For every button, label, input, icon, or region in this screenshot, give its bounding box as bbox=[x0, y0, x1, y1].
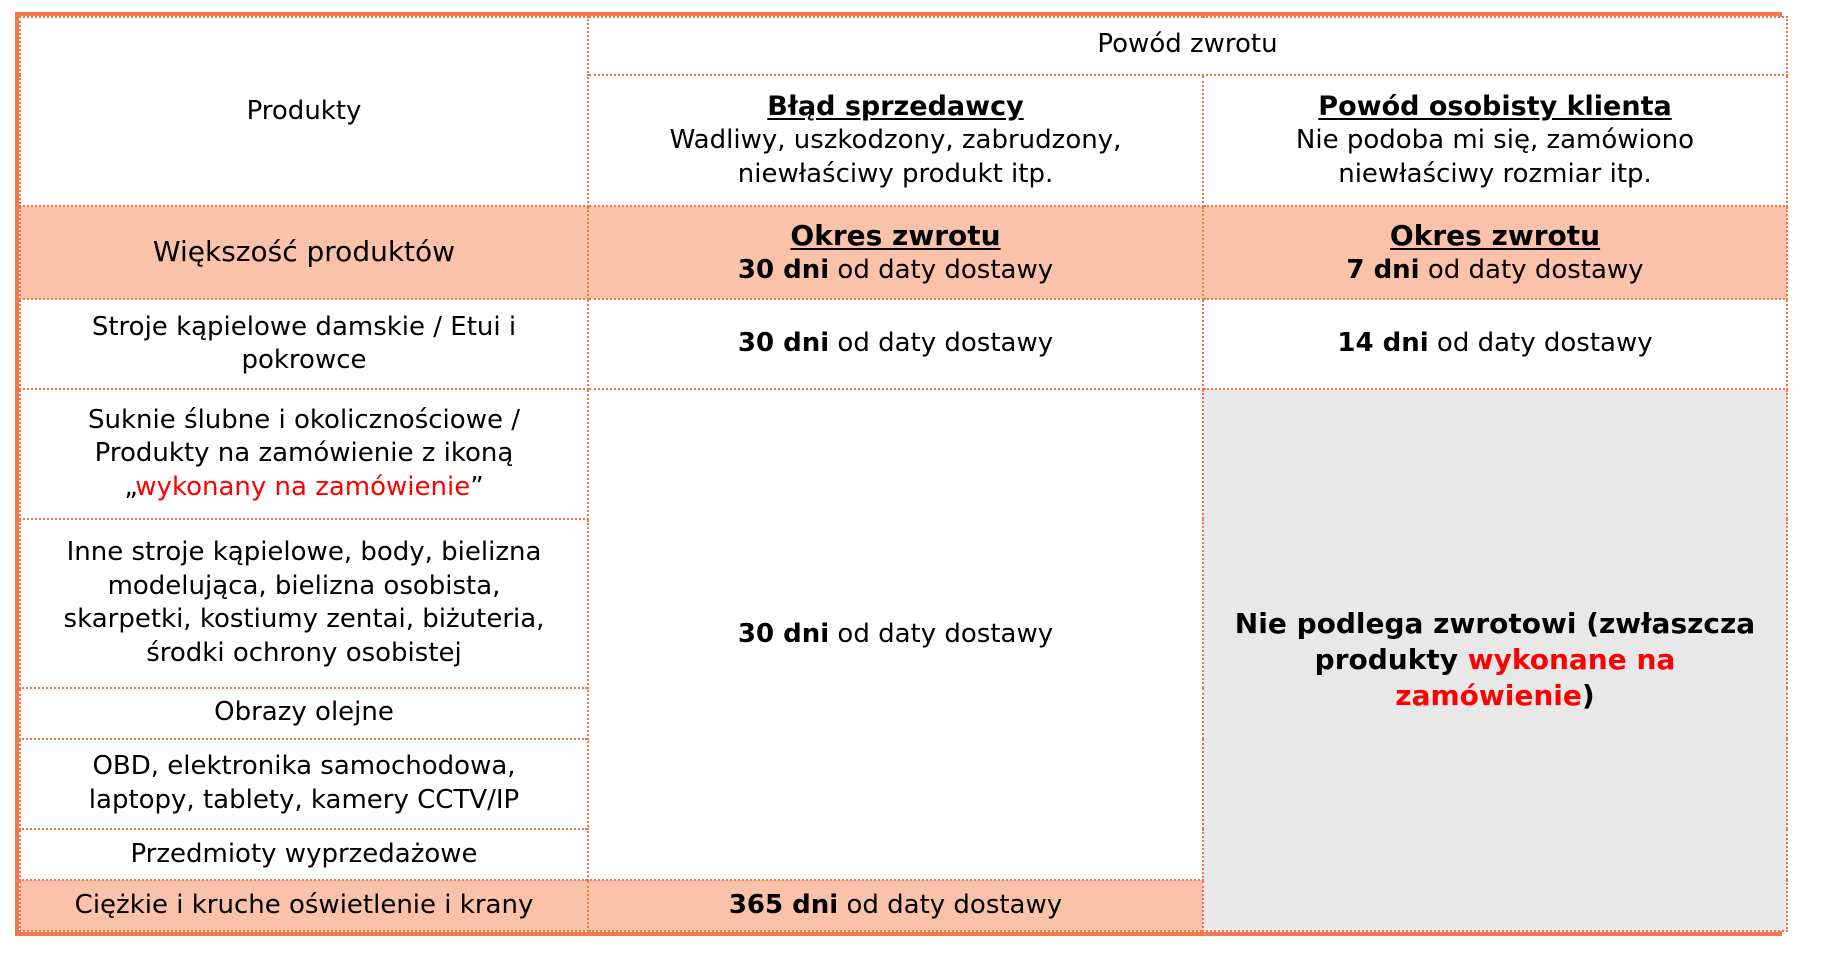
personal-reason-cell-swimwear-cases: 14 dni od daty dostawy bbox=[1203, 299, 1787, 389]
return-period-days: 365 dni bbox=[729, 890, 838, 920]
table-row-swimwear-cases: Stroje kąpielowe damskie / Etui i pokrow… bbox=[20, 299, 1787, 389]
seller-error-cell-heavy-fragile: 365 dni od daty dostawy bbox=[588, 880, 1203, 931]
header-seller-error-desc-line2: niewłaściwy produkt itp. bbox=[599, 158, 1192, 192]
return-policy-table: Produkty Powód zwrotu Błąd sprzedawcy Wa… bbox=[19, 16, 1788, 932]
product-cell-electronics: OBD, elektronika samochodowa, laptopy, t… bbox=[20, 739, 588, 829]
no-return-prefix: produkty bbox=[1315, 643, 1468, 676]
return-period-days: 30 dni bbox=[738, 255, 829, 285]
table-row-most-products: Większość produktów Okres zwrotu 30 dni … bbox=[20, 206, 1787, 299]
product-label-line3: „wykonany na zamówienie” bbox=[31, 471, 577, 505]
header-seller-error-column: Błąd sprzedawcy Wadliwy, uszkodzony, zab… bbox=[588, 75, 1203, 206]
product-label-line3: skarpetki, kostiumy zentai, biżuteria, bbox=[31, 603, 577, 637]
product-cell-clearance-items: Przedmioty wyprzedażowe bbox=[20, 829, 588, 880]
return-period-days: 30 dni bbox=[738, 328, 829, 358]
product-label-line2: pokrowce bbox=[31, 344, 577, 378]
return-period-days: 7 dni bbox=[1346, 255, 1419, 285]
return-period-value: 7 dni od daty dostawy bbox=[1214, 254, 1776, 288]
product-cell-wedding-dresses: Suknie ślubne i okolicznościowe / Produk… bbox=[20, 389, 588, 519]
seller-error-cell-most-products: Okres zwrotu 30 dni od daty dostawy bbox=[588, 206, 1203, 299]
return-period-suffix: od daty dostawy bbox=[838, 890, 1062, 920]
product-cell-heavy-fragile: Ciężkie i kruche oświetlenie i krany bbox=[20, 880, 588, 931]
seller-error-cell-merged-30-days: 30 dni od daty dostawy bbox=[588, 389, 1203, 880]
return-period-value: 30 dni od daty dostawy bbox=[599, 254, 1192, 288]
header-seller-error-desc-line1: Wadliwy, uszkodzony, zabrudzony, bbox=[599, 124, 1192, 158]
return-period-heading: Okres zwrotu bbox=[599, 218, 1192, 254]
product-label-line1: OBD, elektronika samochodowa, bbox=[31, 750, 577, 784]
product-label-line4: środki ochrony osobistej bbox=[31, 637, 577, 671]
product-label-line2: laptopy, tablety, kamery CCTV/IP bbox=[31, 784, 577, 818]
header-personal-reason-desc-line1: Nie podoba mi się, zamówiono bbox=[1214, 124, 1776, 158]
return-policy-table-container: Produkty Powód zwrotu Błąd sprzedawcy Wa… bbox=[15, 12, 1782, 936]
return-period-days: 14 dni bbox=[1337, 328, 1428, 358]
product-label-line1: Suknie ślubne i okolicznościowe / bbox=[31, 404, 577, 438]
return-period-days: 30 dni bbox=[738, 619, 829, 649]
no-return-line2: produkty wykonane na zamówienie) bbox=[1214, 642, 1776, 715]
header-personal-reason-column: Powód osobisty klienta Nie podoba mi się… bbox=[1203, 75, 1787, 206]
personal-reason-cell-most-products: Okres zwrotu 7 dni od daty dostawy bbox=[1203, 206, 1787, 299]
quote-open: „ bbox=[124, 472, 135, 502]
product-label-line1: Inne stroje kąpielowe, body, bielizna bbox=[31, 536, 577, 570]
seller-error-cell-swimwear-cases: 30 dni od daty dostawy bbox=[588, 299, 1203, 389]
product-cell-oil-paintings: Obrazy olejne bbox=[20, 688, 588, 739]
table-row-wedding-dresses: Suknie ślubne i okolicznościowe / Produk… bbox=[20, 389, 1787, 519]
header-personal-reason-title: Powód osobisty klienta bbox=[1214, 89, 1776, 124]
return-period-suffix: od daty dostawy bbox=[1429, 328, 1653, 358]
product-label-line1: Stroje kąpielowe damskie / Etui i bbox=[31, 311, 577, 345]
table-header-row-group: Produkty Powód zwrotu bbox=[20, 17, 1787, 75]
return-period-suffix: od daty dostawy bbox=[1420, 255, 1644, 285]
product-cell-other-swimwear: Inne stroje kąpielowe, body, bielizna mo… bbox=[20, 519, 588, 688]
no-return-suffix: ) bbox=[1582, 679, 1595, 712]
personal-reason-cell-no-return: Nie podlega zwrotowi (zwłaszcza produkty… bbox=[1203, 389, 1787, 931]
quote-close: ” bbox=[470, 472, 483, 502]
no-return-line1: Nie podlega zwrotowi (zwłaszcza bbox=[1214, 606, 1776, 642]
return-period-suffix: od daty dostawy bbox=[829, 619, 1053, 649]
product-label-line2: Produkty na zamówienie z ikoną bbox=[31, 437, 577, 471]
made-to-order-label: wykonany na zamówienie bbox=[135, 472, 470, 502]
header-reason-group-title: Powód zwrotu bbox=[588, 17, 1787, 75]
product-cell-swimwear-cases: Stroje kąpielowe damskie / Etui i pokrow… bbox=[20, 299, 588, 389]
header-personal-reason-desc-line2: niewłaściwy rozmiar itp. bbox=[1214, 158, 1776, 192]
product-label-line2: modelująca, bielizna osobista, bbox=[31, 570, 577, 604]
header-seller-error-title: Błąd sprzedawcy bbox=[599, 89, 1192, 124]
return-period-suffix: od daty dostawy bbox=[829, 328, 1053, 358]
return-period-suffix: od daty dostawy bbox=[829, 255, 1053, 285]
product-cell-most-products: Większość produktów bbox=[20, 206, 588, 299]
header-products-title: Produkty bbox=[20, 17, 588, 206]
return-period-heading: Okres zwrotu bbox=[1214, 218, 1776, 254]
